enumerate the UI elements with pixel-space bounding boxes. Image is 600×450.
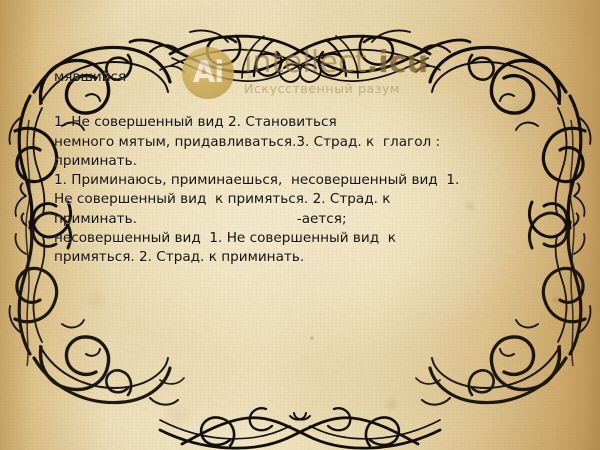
side-rule-left-flick-a (21, 183, 26, 196)
side-rule-right-flick-b (573, 213, 578, 226)
side-rule-left (26, 120, 30, 366)
edge-ornament-bottom-center (160, 408, 418, 448)
parchment-page: Ai intellect.icu Искусственный разум мяв… (0, 0, 600, 450)
side-rule-right (570, 120, 574, 366)
entry-line-7: несовершенный вид 1. Не совершенный вид … (54, 229, 554, 248)
entry-line-4: 1. Приминаюсь, приминаешься, несовершенн… (54, 171, 554, 190)
entry-line-3: приминать. (54, 152, 554, 171)
entry-headword: мявшийся (54, 68, 554, 87)
entry-line-6: приминать. -ается; (54, 210, 554, 229)
side-rule-left-flick-b (22, 213, 27, 226)
entry-line-5: Не совершенный вид к примяться. 2. Страд… (54, 190, 554, 209)
dictionary-entry: мявшийся 1. Не совершенный вид 2. Станов… (54, 68, 554, 268)
entry-line-8: примяться. 2. Страд. к приминать. (54, 248, 554, 267)
entry-line-2: немного мятым, придавливаться.3. Страд. … (54, 133, 554, 152)
side-rule-right-flick-a (574, 183, 579, 196)
entry-line-1: 1. Не совершенный вид 2. Становиться (54, 113, 554, 132)
edge-ornament-bottom-center-mirror (182, 408, 440, 448)
